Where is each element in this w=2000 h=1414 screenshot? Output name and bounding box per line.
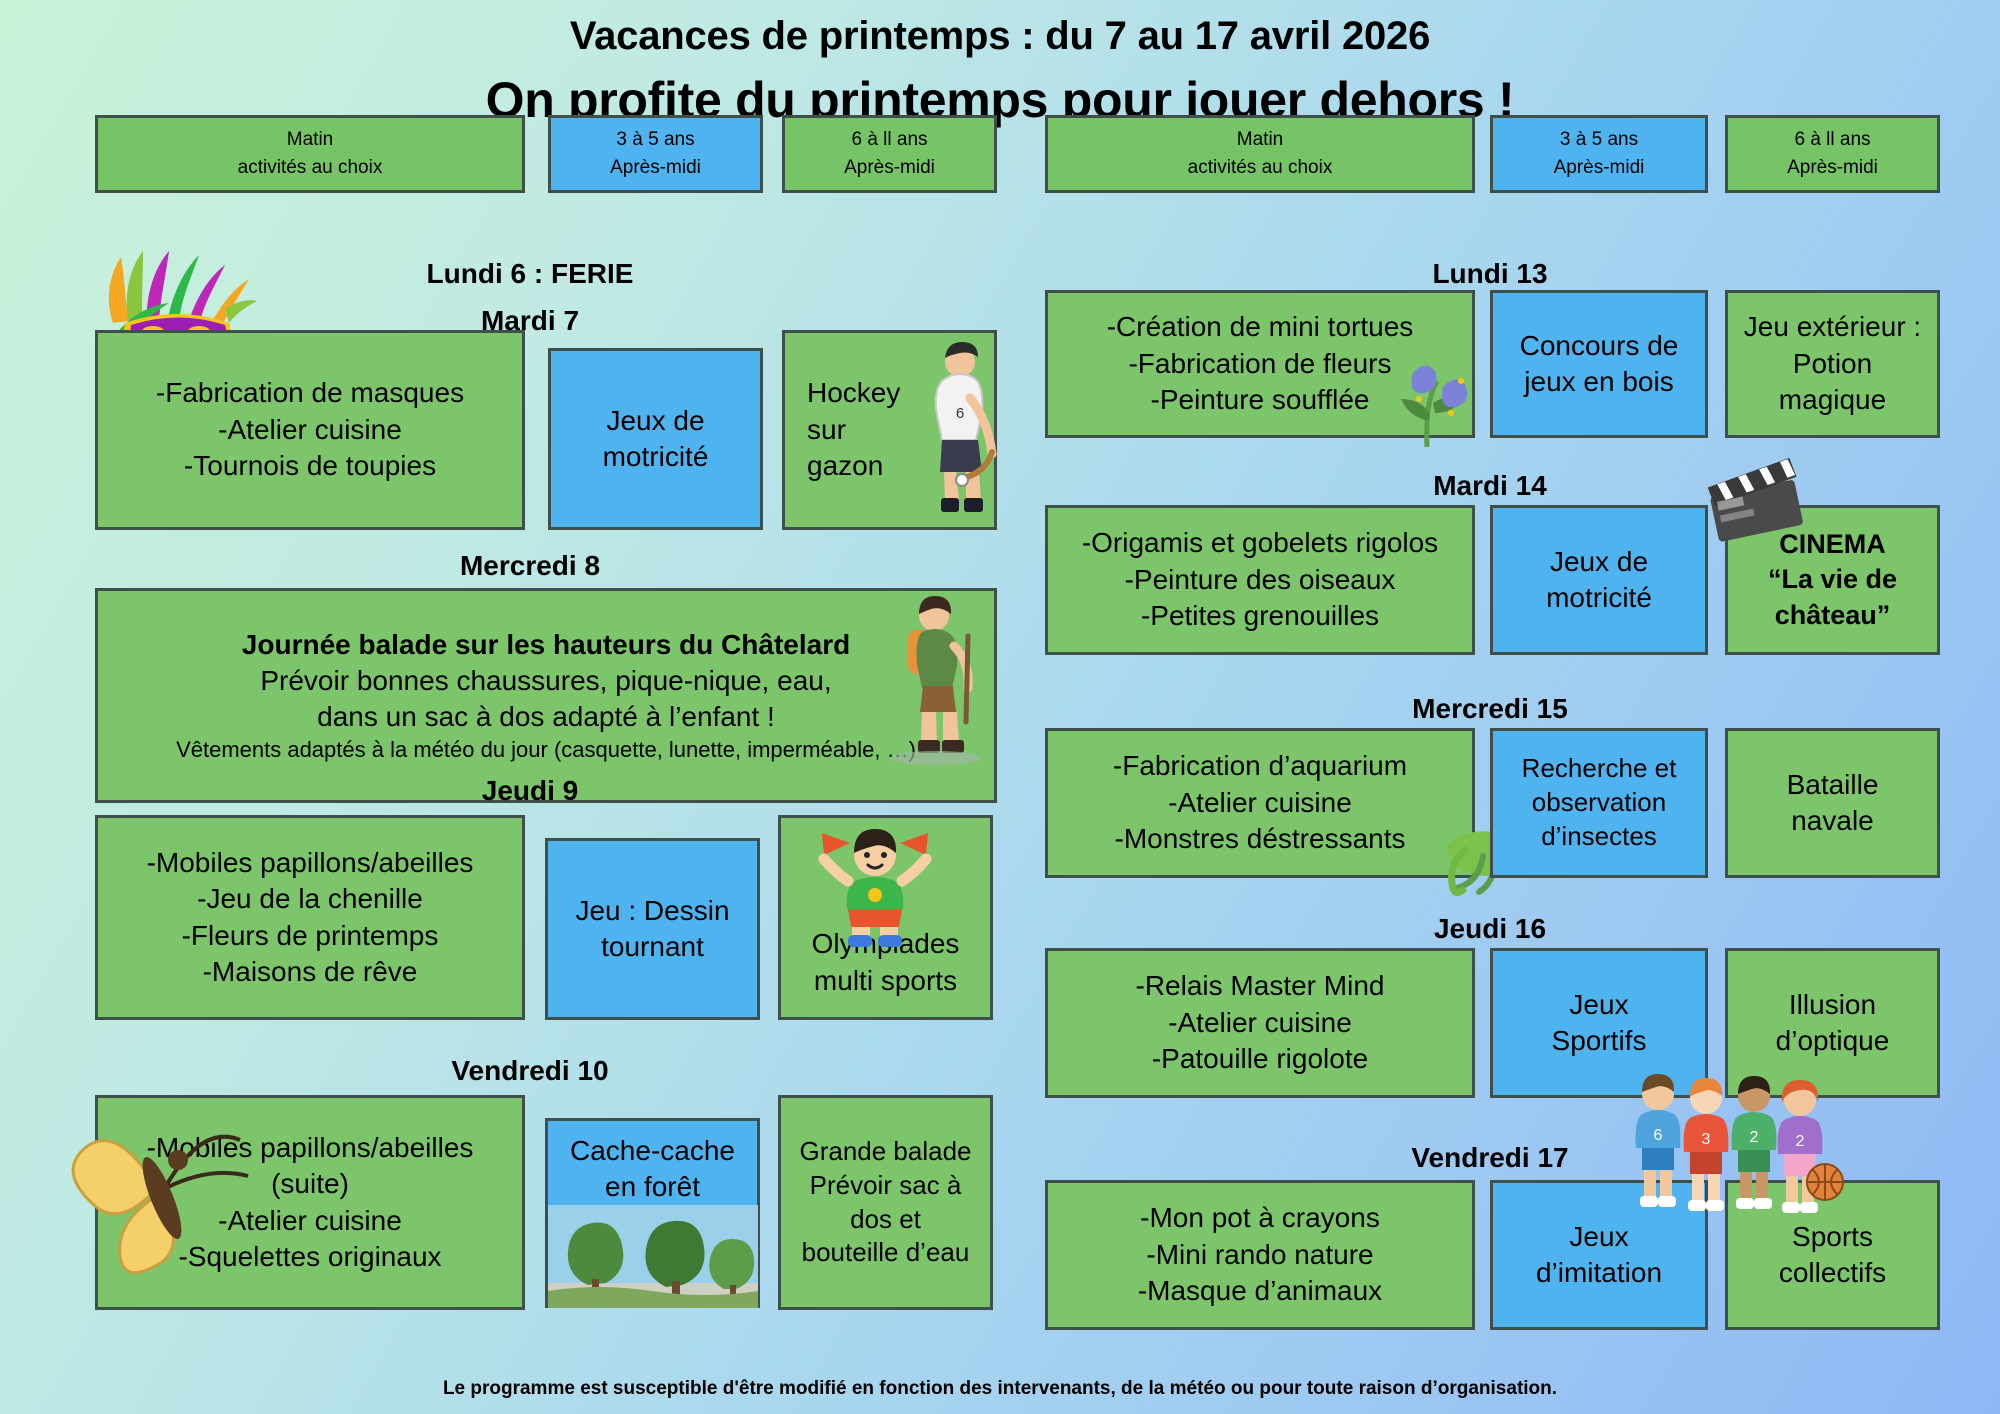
- card-mardi-14-matin: -Origamis et gobelets rigolos -Peinture …: [1045, 505, 1475, 655]
- card-lundi-13-3-5: Concours de jeux en bois: [1490, 290, 1708, 438]
- card-mercredi-8-journee: Journée balade sur les hauteurs du Châte…: [95, 588, 997, 803]
- day-label-mercredi-8: Mercredi 8: [330, 550, 730, 582]
- day-label-jeudi-9: Jeudi 9: [330, 775, 730, 807]
- card-lundi-13-matin: -Création de mini tortues -Fabrication d…: [1045, 290, 1475, 438]
- day-label-mardi-14: Mardi 14: [1290, 470, 1690, 502]
- card-vendredi-17-matin: -Mon pot à crayons -Mini rando nature -M…: [1045, 1180, 1475, 1330]
- card-jeudi-9-6-11: Olympiades multi sports: [778, 815, 993, 1020]
- header-left-3-5-ans: 3 à 5 ans Après-midi: [548, 115, 763, 193]
- header-right-6-11-ans: 6 à ll ans Après-midi: [1725, 115, 1940, 193]
- card-mercredi-15-6-11: Bataille navale: [1725, 728, 1940, 878]
- card-mardi-14-6-11-cinema: CINEMA “La vie de château”: [1725, 505, 1940, 655]
- header-right-matin: Matin activités au choix: [1045, 115, 1475, 193]
- day-label-jeudi-16: Jeudi 16: [1290, 913, 1690, 945]
- card-mardi-14-3-5: Jeux de motricité: [1490, 505, 1708, 655]
- card-jeudi-16-6-11: Illusion d’optique: [1725, 948, 1940, 1098]
- svg-text:3: 3: [1702, 1131, 1711, 1148]
- card-lundi-13-6-11: Jeu extérieur : Potion magique: [1725, 290, 1940, 438]
- card-vendredi-10-3-5: Cache-cache en forêt: [545, 1118, 760, 1308]
- card-jeudi-9-3-5: Jeu : Dessin tournant: [545, 838, 760, 1020]
- card-vendredi-17-3-5: Jeux d’imitation: [1490, 1180, 1708, 1330]
- footer-disclaimer: Le programme est susceptible d'être modi…: [0, 1378, 2000, 1400]
- column-header-band: Matin activités au choix 3 à 5 ans Après…: [0, 115, 2000, 193]
- card-mercredi-15-matin: -Fabrication d’aquarium -Atelier cuisine…: [1045, 728, 1475, 878]
- svg-text:2: 2: [1796, 1133, 1805, 1150]
- card-jeudi-16-3-5: Jeux Sportifs: [1490, 948, 1708, 1098]
- card-vendredi-10-matin: -Mobiles papillons/abeilles (suite) -Ate…: [95, 1095, 525, 1310]
- poster-header: Vacances de printemps : du 7 au 17 avril…: [0, 0, 2000, 129]
- day-label-vendredi-17: Vendredi 17: [1290, 1142, 1690, 1174]
- day-label-lundi-6: Lundi 6 : FERIE: [330, 258, 730, 290]
- card-mardi-7-3-5: Jeux de motricité: [548, 348, 763, 530]
- poster-title-dates: Vacances de printemps : du 7 au 17 avril…: [0, 14, 2000, 59]
- header-left-6-11-ans: 6 à ll ans Après-midi: [782, 115, 997, 193]
- card-jeudi-9-matin: -Mobiles papillons/abeilles -Jeu de la c…: [95, 815, 525, 1020]
- card-mardi-7-6-11: Hockey sur gazon: [782, 330, 997, 530]
- card-vendredi-10-6-11: Grande balade Prévoir sac à dos et boute…: [778, 1095, 993, 1310]
- card-vendredi-17-6-11: Sports collectifs: [1725, 1180, 1940, 1330]
- card-mercredi-15-3-5: Recherche et observation d’insectes: [1490, 728, 1708, 878]
- header-right-3-5-ans: 3 à 5 ans Après-midi: [1490, 115, 1708, 193]
- header-left-matin: Matin activités au choix: [95, 115, 525, 193]
- card-jeudi-16-matin: -Relais Master Mind -Atelier cuisine -Pa…: [1045, 948, 1475, 1098]
- day-label-mercredi-15: Mercredi 15: [1290, 693, 1690, 725]
- card-mardi-7-matin: -Fabrication de masques -Atelier cuisine…: [95, 330, 525, 530]
- day-label-lundi-13: Lundi 13: [1290, 258, 1690, 290]
- svg-text:2: 2: [1750, 1129, 1759, 1146]
- day-label-vendredi-10: Vendredi 10: [330, 1055, 730, 1087]
